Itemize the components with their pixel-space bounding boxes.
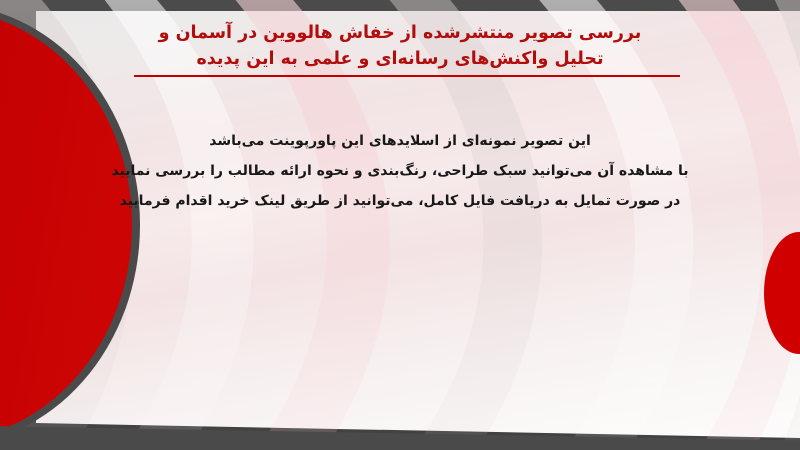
slide-canvas: بررسی تصویر منتشرشده از خفاش هالووین در … <box>0 0 800 450</box>
title-underline-rule <box>134 75 680 77</box>
slide-title: بررسی تصویر منتشرشده از خفاش هالووین در … <box>0 20 800 72</box>
body-line-3: در صورت تمایل به دریافت فایل کامل، می‌تو… <box>40 186 760 216</box>
slide-body-text: این تصویر نمونه‌ای از اسلایدهای این پاور… <box>40 126 760 216</box>
slide-title-line-2: تحلیل واکنش‌های رسانه‌ای و علمی به این پ… <box>0 46 800 72</box>
slide-title-line-1: بررسی تصویر منتشرشده از خفاش هالووین در … <box>0 20 800 46</box>
body-line-2: با مشاهده آن می‌توانید سبک طراحی، رنگ‌بن… <box>40 156 760 186</box>
body-line-1: این تصویر نمونه‌ای از اسلایدهای این پاور… <box>40 126 760 156</box>
